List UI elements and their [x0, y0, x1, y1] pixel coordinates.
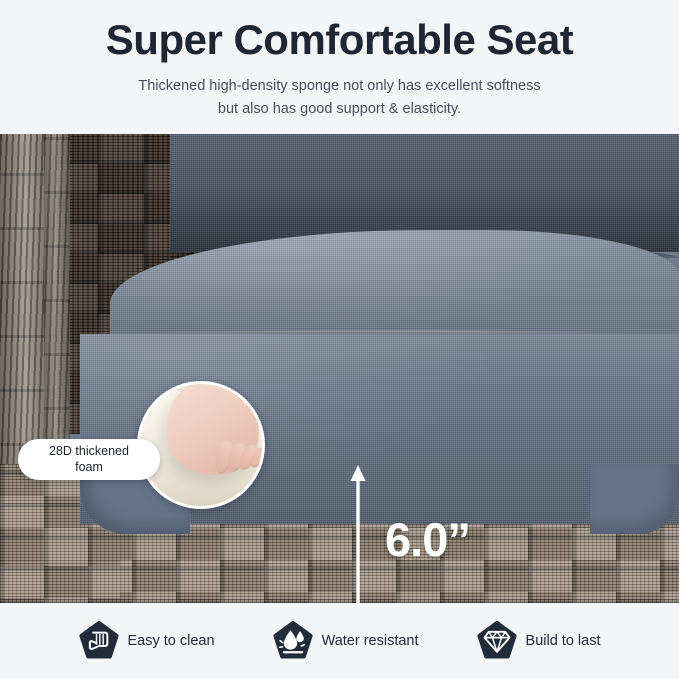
feature-label-water-resistant: Water resistant: [322, 633, 419, 649]
cleaning-cloth-icon: [79, 621, 119, 661]
callout-text-block: 28D thickened foam: [49, 444, 129, 475]
foam-press-inset: [137, 381, 265, 509]
dimension-label: 6.0”: [385, 516, 470, 563]
header-section: Super Comfortable Seat Thickened high-de…: [0, 0, 679, 134]
feature-label-easy-to-clean: Easy to clean: [128, 633, 215, 649]
callout-line-2: foam: [75, 460, 103, 474]
page-title: Super Comfortable Seat: [106, 16, 573, 64]
rattan-arm-edge: [44, 134, 70, 464]
feature-item-easy-to-clean: Easy to clean: [79, 621, 215, 661]
subtitle-line-2: but also has good support & elasticity.: [138, 98, 540, 120]
dimension-arrow-icon: [345, 464, 371, 603]
wicker-base-left: [0, 534, 120, 603]
water-drop-icon: [273, 621, 313, 661]
callout-line-1: 28D thickened: [49, 444, 129, 458]
product-feature-graphic: Super Comfortable Seat Thickened high-de…: [0, 0, 679, 679]
feature-label-build-to-last: Build to last: [526, 633, 601, 649]
feature-item-build-to-last: Build to last: [477, 621, 601, 661]
feature-bar: Easy to clean Water resistant: [0, 603, 679, 679]
foam-callout-pill: 28D thickened foam: [18, 439, 160, 480]
product-photo: 28D thickened foam 6.0”: [0, 134, 679, 603]
seat-corner-right: [590, 464, 679, 534]
subtitle-line-1: Thickened high-density sponge not only h…: [138, 75, 540, 97]
subtitle-block: Thickened high-density sponge not only h…: [138, 75, 540, 120]
feature-item-water-resistant: Water resistant: [273, 621, 419, 661]
diamond-icon: [477, 621, 517, 661]
